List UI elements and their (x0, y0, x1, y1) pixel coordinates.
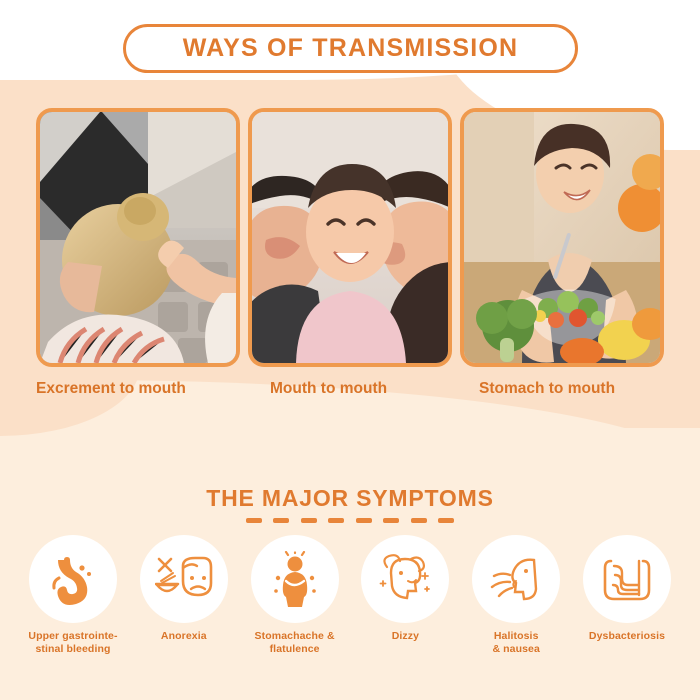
symptom-bubble-3 (251, 535, 339, 623)
page-title-text: WAYS OF TRANSMISSION (183, 34, 519, 63)
symptom-item-4: Dizzy (352, 535, 458, 685)
transmission-caption-1: Excrement to mouth (36, 380, 186, 398)
symptom-item-5: Halitosis & nausea (463, 535, 569, 685)
symptom-item-1: Upper gastrointe- stinal bleeding (20, 535, 126, 685)
symptoms-title: THE MAJOR SYMPTOMS (0, 485, 700, 512)
dashed-divider (246, 515, 454, 525)
symptom-bubble-6 (583, 535, 671, 623)
symptom-label-4: Dizzy (392, 630, 419, 643)
symptom-label-3: Stomachache & flatulence (255, 630, 335, 655)
symptoms-list: Upper gastrointe- stinal bleeding (20, 535, 680, 685)
transmission-card-2 (248, 108, 452, 367)
symptom-label-1: Upper gastrointe- stinal bleeding (28, 630, 117, 655)
symptom-bubble-4 (361, 535, 449, 623)
parents-kissing-child-photo (252, 112, 448, 363)
transmission-card-1 (36, 108, 240, 367)
dizzy-head-icon (377, 553, 433, 605)
symptom-item-3: Stomachache & flatulence (242, 535, 348, 685)
transmission-cards: Excrement to mouth Mouth to mouth Stomac… (0, 108, 700, 408)
symptom-label-5: Halitosis & nausea (492, 630, 540, 655)
page-title: WAYS OF TRANSMISSION (123, 24, 578, 73)
symptom-item-6: Dysbacteriosis (574, 535, 680, 685)
transmission-caption-3: Stomach to mouth (479, 380, 615, 398)
symptom-bubble-5 (472, 535, 560, 623)
transmission-caption-2: Mouth to mouth (270, 380, 387, 398)
symptom-label-2: Anorexia (161, 630, 207, 643)
infographic-poster: WAYS OF TRANSMISSION (0, 0, 700, 700)
stomach-bleeding-icon (46, 552, 100, 606)
transmission-card-3 (460, 108, 664, 367)
symptom-bubble-1 (29, 535, 117, 623)
bad-breath-icon (488, 554, 544, 604)
stomachache-person-icon (270, 551, 320, 607)
symptom-label-6: Dysbacteriosis (589, 630, 665, 643)
intestine-icon (601, 553, 653, 605)
woman-eating-salad-photo (464, 112, 660, 363)
child-pointing-at-woman-photo (40, 112, 236, 363)
symptom-item-2: Anorexia (131, 535, 237, 685)
no-appetite-face-icon (155, 554, 213, 604)
symptom-bubble-2 (140, 535, 228, 623)
